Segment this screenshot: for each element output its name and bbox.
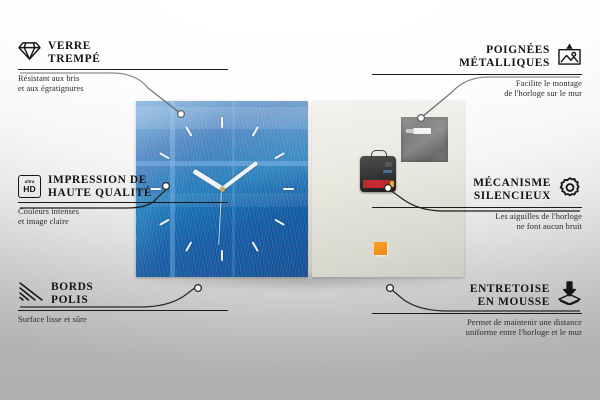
feature-title: VERRE TREMPÉ <box>48 40 101 65</box>
picture-hanger-icon <box>557 43 582 71</box>
feature-description: Résistant aux bris et aux égratignures <box>18 74 228 94</box>
feature-bords-polis[interactable]: BORDS POLIS Surface lisse et sûre <box>18 281 228 325</box>
feature-header: ultra HD IMPRESSION DE HAUTE QUALITÉ <box>18 174 228 199</box>
feature-header: MÉCANISME SILENCIEUX <box>372 176 582 204</box>
gear-icon <box>558 176 582 204</box>
feature-description: Couleurs intenses et image claire <box>18 207 228 227</box>
polished-edge-icon <box>18 281 44 307</box>
feature-header: POIGNÉES MÉTALLIQUES <box>372 43 582 71</box>
feature-description: Facilite le montage de l'horloge sur le … <box>372 79 582 99</box>
feature-header: BORDS POLIS <box>18 281 228 307</box>
feature-divider <box>372 74 582 75</box>
foam-spacer-icon <box>557 281 582 310</box>
feature-impression-haute-qualite[interactable]: ultra HD IMPRESSION DE HAUTE QUALITÉ Cou… <box>18 174 228 228</box>
callout-dot-verre-trempe <box>178 111 185 118</box>
feature-title: MÉCANISME SILENCIEUX <box>473 177 551 202</box>
feature-divider <box>372 207 582 208</box>
feature-title: IMPRESSION DE HAUTE QUALITÉ <box>48 174 152 199</box>
infographic-canvas: VERRE TREMPÉ Résistant aux bris et aux é… <box>0 0 600 400</box>
feature-mecanisme-silencieux[interactable]: MÉCANISME SILENCIEUX Les aiguilles de l'… <box>372 176 582 232</box>
diamond-icon <box>18 40 41 66</box>
feature-divider <box>18 202 228 203</box>
feature-description: Surface lisse et sûre <box>18 315 228 325</box>
feature-header: ENTRETOISE EN MOUSSE <box>372 281 582 310</box>
feature-header: VERRE TREMPÉ <box>18 40 228 66</box>
feature-poignees-metalliques[interactable]: POIGNÉES MÉTALLIQUES Facilite le montage… <box>372 43 582 99</box>
feature-title: POIGNÉES MÉTALLIQUES <box>459 44 550 69</box>
feature-entretoise-en-mousse[interactable]: ENTRETOISE EN MOUSSE Permet de maintenir… <box>372 281 582 338</box>
feature-divider <box>18 69 228 70</box>
feature-verre-trempe[interactable]: VERRE TREMPÉ Résistant aux bris et aux é… <box>18 40 228 94</box>
feature-description: Les aiguilles de l'horloge ne font aucun… <box>372 212 582 232</box>
ultra-hd-icon: ultra HD <box>18 175 41 198</box>
feature-divider <box>372 313 582 314</box>
feature-title: ENTRETOISE EN MOUSSE <box>470 283 550 308</box>
feature-description: Permet de maintenir une distance uniform… <box>372 318 582 338</box>
feature-title: BORDS POLIS <box>51 281 93 306</box>
feature-divider <box>18 310 228 311</box>
callout-dot-poignees <box>418 115 425 122</box>
